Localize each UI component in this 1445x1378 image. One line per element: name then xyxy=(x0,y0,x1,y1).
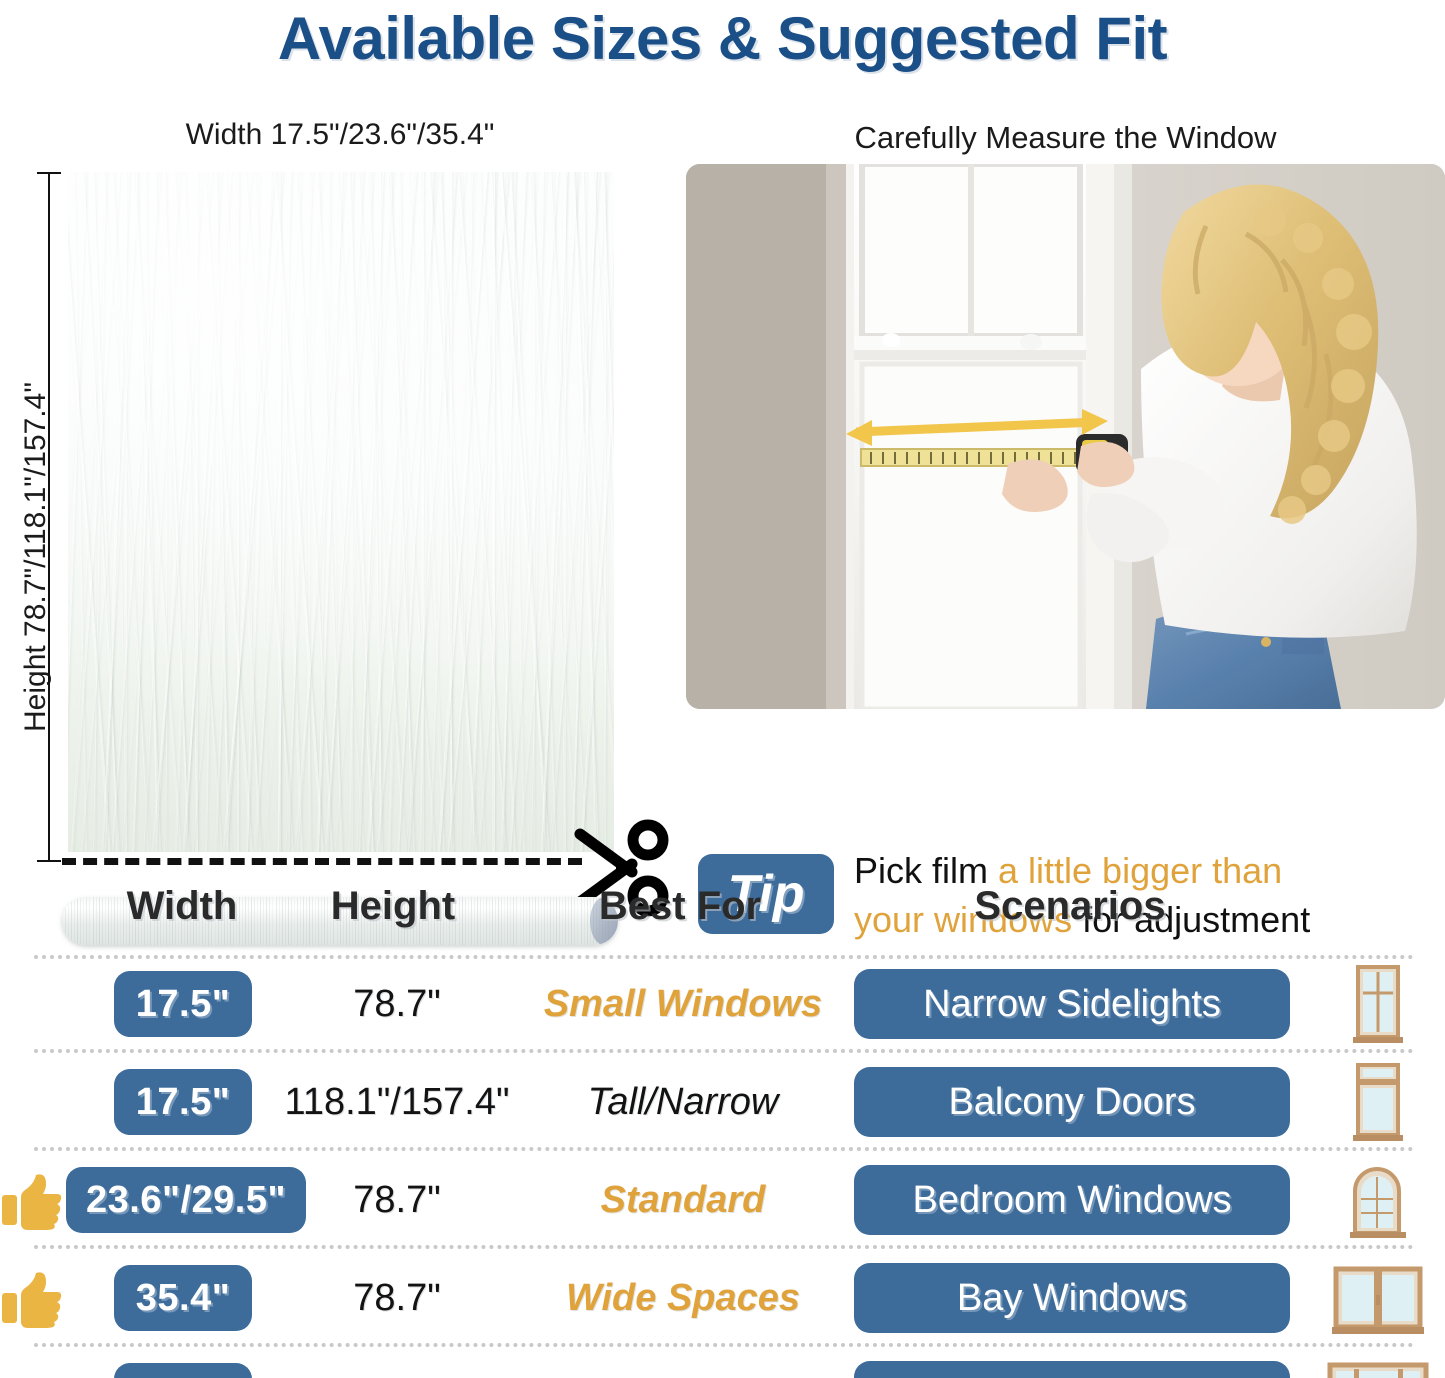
column-header-scenarios: Scenarios xyxy=(900,884,1240,929)
transom-window-icon xyxy=(1322,1063,1432,1143)
measure-section-title: Carefully Measure the Window xyxy=(686,120,1445,156)
film-sheen xyxy=(68,172,614,852)
row-divider xyxy=(34,1245,1414,1249)
product-dimension-diagram: Width 17.5"/23.6"/35.4" Height 78.7"/118… xyxy=(0,110,690,870)
thumbs-up-icon xyxy=(2,1173,62,1231)
cell-width-badge: 35.4" xyxy=(114,1363,252,1378)
cut-guide-dashed-line xyxy=(62,858,582,865)
table-row: 17.5"78.7"Small WindowsNarrow Sidelights xyxy=(0,963,1445,1047)
table-row: 35.4"78.7"Wide SpacesBay Windows xyxy=(0,1257,1445,1341)
cell-height: 78.7" xyxy=(258,1179,536,1222)
cell-scenario-badge: Wide Sliding Doors xyxy=(854,1361,1290,1378)
table-row: 35.4"118.1"/157.4"Extra WideWide Sliding… xyxy=(0,1355,1445,1378)
row-divider xyxy=(34,1147,1414,1151)
cell-best-for: Small Windows xyxy=(538,983,828,1026)
table-row: 23.6"/29.5"78.7"StandardBedroom Windows xyxy=(0,1159,1445,1243)
measure-window-section: Carefully Measure the Window xyxy=(686,112,1445,872)
row-divider xyxy=(34,1343,1414,1347)
column-header-width: Width xyxy=(92,884,272,929)
cell-height: 78.7" xyxy=(258,1277,536,1320)
cell-width-badge: 35.4" xyxy=(114,1265,252,1331)
double-casement-window-icon xyxy=(1322,1259,1432,1339)
cell-best-for: Tall/Narrow xyxy=(538,1081,828,1124)
sliding-door-icon xyxy=(1322,1357,1432,1378)
row-divider xyxy=(34,1049,1414,1053)
cell-best-for: Standard xyxy=(538,1179,828,1222)
width-dimension-label: Width 17.5"/23.6"/35.4" xyxy=(70,118,610,152)
cell-scenario-badge: Bedroom Windows xyxy=(854,1165,1290,1235)
cell-height: 78.7" xyxy=(258,983,536,1026)
cell-scenario-badge: Narrow Sidelights xyxy=(854,969,1290,1039)
column-header-best-for: Best For xyxy=(540,884,820,929)
cell-scenario-badge: Balcony Doors xyxy=(854,1067,1290,1137)
cell-height: 118.1"/157.4" xyxy=(258,1081,536,1124)
double-hung-window-icon xyxy=(1322,965,1432,1045)
cell-width-badge: 17.5" xyxy=(114,971,252,1037)
window-film-sheet xyxy=(68,172,614,852)
height-dimension-line xyxy=(48,172,50,862)
sizes-table: Width Height Best For Scenarios 17.5"78.… xyxy=(0,884,1445,1378)
cell-width-badge: 17.5" xyxy=(114,1069,252,1135)
column-header-height: Height xyxy=(288,884,498,929)
cell-best-for: Wide Spaces xyxy=(538,1277,828,1320)
page-title: Available Sizes & Suggested Fit xyxy=(0,4,1445,73)
arched-window-icon xyxy=(1322,1161,1432,1241)
thumbs-up-icon xyxy=(2,1271,62,1329)
infographic-page: Available Sizes & Suggested Fit Width 17… xyxy=(0,0,1445,1378)
row-divider xyxy=(34,955,1414,959)
cell-scenario-badge: Bay Windows xyxy=(854,1263,1290,1333)
table-row: 17.5"118.1"/157.4"Tall/NarrowBalcony Doo… xyxy=(0,1061,1445,1145)
measuring-window-photo xyxy=(686,164,1445,709)
table-header-row: Width Height Best For Scenarios xyxy=(0,884,1445,959)
